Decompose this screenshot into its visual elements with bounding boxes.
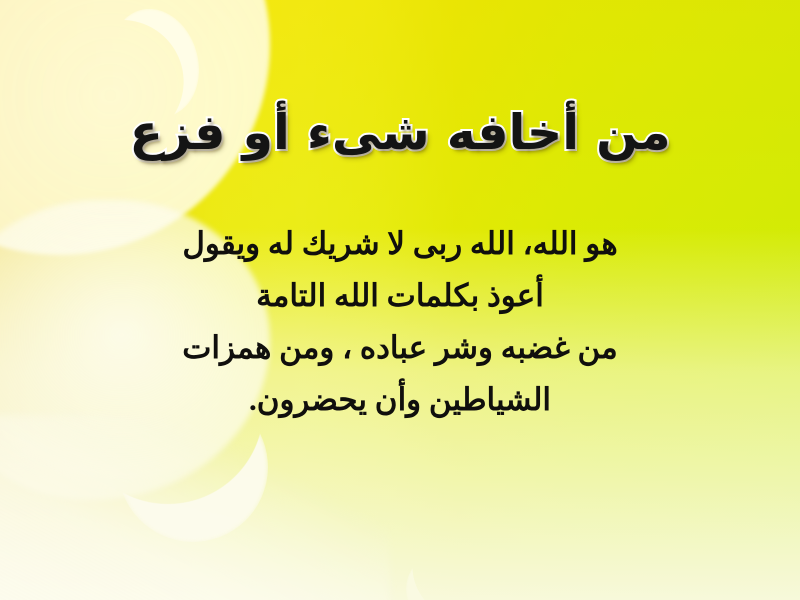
dua-line-3: من غضبه وشر عباده ، ومن همزات (60, 322, 740, 374)
dua-card: من أخافه شىء أو فزع هو الله، الله ربى لا… (0, 0, 800, 600)
card-title: من أخافه شىء أو فزع (0, 107, 800, 158)
dua-line-4: الشياطين وأن يحضرون. (60, 374, 740, 426)
dua-line-1: هو الله، الله ربى لا شريك له ويقول (60, 218, 740, 270)
card-content: من أخافه شىء أو فزع هو الله، الله ربى لا… (0, 0, 800, 600)
dua-line-2: أعوذ بكلمات الله التامة (60, 270, 740, 322)
dua-body-text: هو الله، الله ربى لا شريك له ويقول أعوذ … (60, 218, 740, 426)
